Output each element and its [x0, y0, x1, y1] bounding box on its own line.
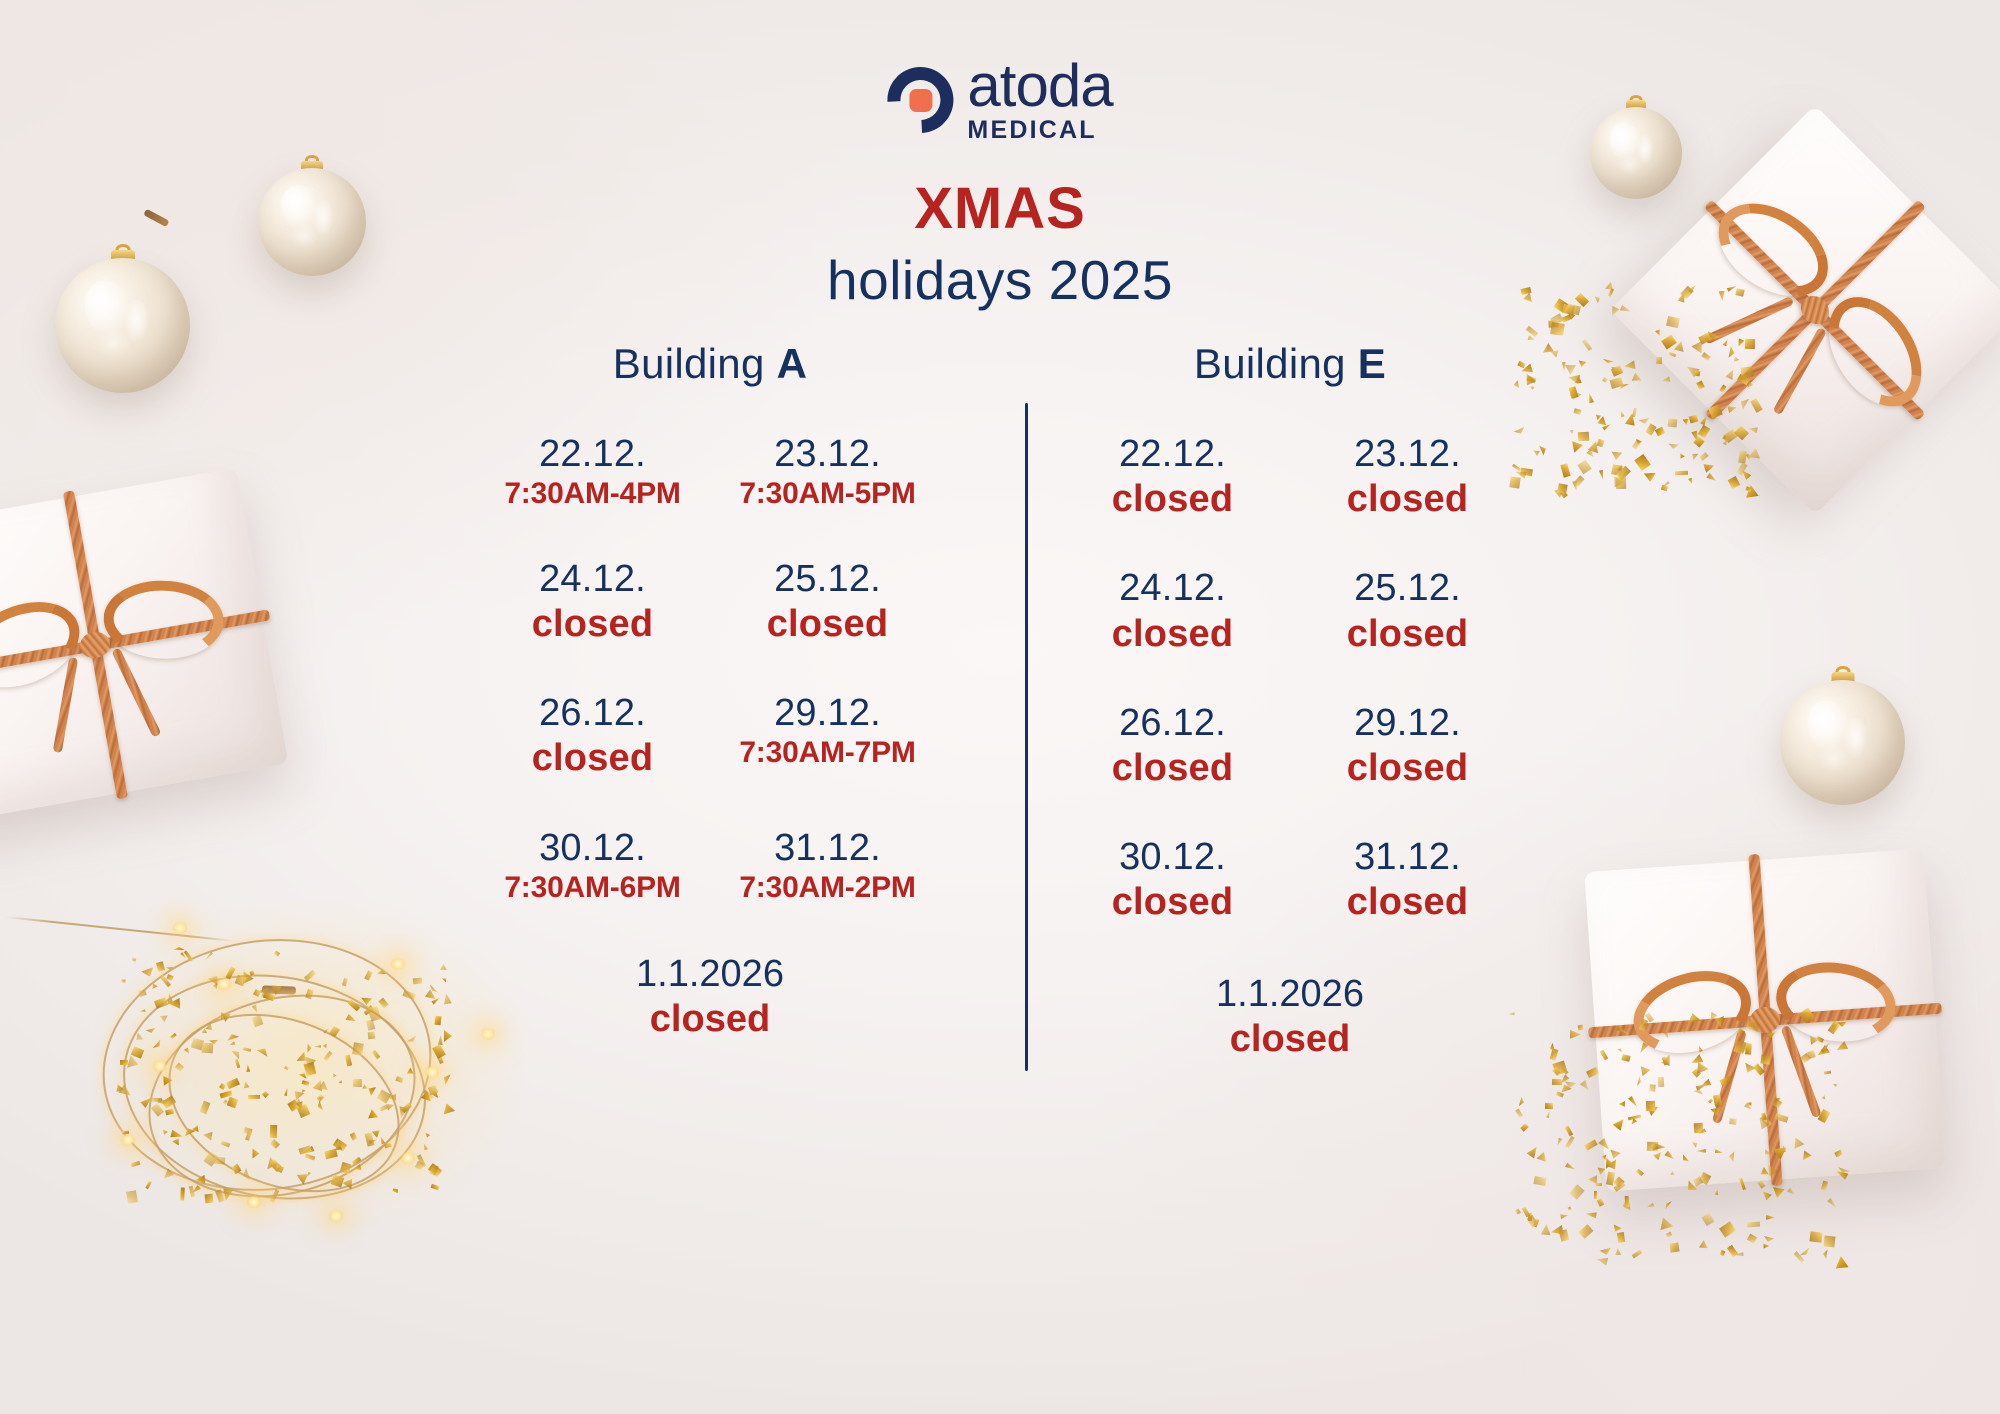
schedule-entry: 22.12. closed	[1055, 432, 1290, 522]
entry-hours: closed	[1055, 879, 1290, 925]
building-e-entries: 22.12. closed 23.12. closed 24.12. close…	[1055, 432, 1525, 926]
entry-date: 30.12.	[475, 826, 710, 870]
entry-date: 25.12.	[1290, 566, 1525, 610]
entry-hours: closed	[475, 601, 710, 647]
entry-hours: closed	[1290, 611, 1525, 657]
building-a-entries: 22.12. 7:30AM-4PM 23.12. 7:30AM-5PM 24.1…	[475, 432, 945, 906]
schedule-columns: Building A 22.12. 7:30AM-4PM 23.12. 7:30…	[0, 340, 2000, 1062]
entry-hours: 7:30AM-2PM	[710, 870, 945, 907]
page-title-main: holidays 2025	[827, 248, 1173, 312]
building-column-e: Building E 22.12. closed 23.12. closed 2…	[1055, 340, 1525, 1062]
entry-date: 24.12.	[475, 557, 710, 601]
entry-date: 29.12.	[710, 691, 945, 735]
schedule-entry: 31.12. closed	[1290, 835, 1525, 925]
page-title-accent: XMAS	[914, 175, 1086, 242]
entry-hours: 7:30AM-6PM	[475, 870, 710, 907]
entry-date: 22.12.	[1055, 432, 1290, 476]
building-e-label-prefix: Building	[1194, 340, 1358, 387]
building-a-label-key: A	[777, 340, 808, 387]
building-a-heading: Building A	[475, 340, 945, 388]
entry-hours: closed	[1290, 476, 1525, 522]
entry-hours: closed	[1055, 1016, 1525, 1062]
schedule-entry: 29.12. 7:30AM-7PM	[710, 691, 945, 781]
schedule-entry: 30.12. closed	[1055, 835, 1290, 925]
brand-name: atoda	[967, 56, 1112, 116]
entry-hours: closed	[475, 996, 945, 1042]
entry-hours: closed	[475, 735, 710, 781]
brand-logo: atoda MEDICAL	[887, 56, 1112, 143]
building-e-label-key: E	[1358, 340, 1386, 387]
entry-hours: closed	[710, 601, 945, 647]
entry-date: 23.12.	[1290, 432, 1525, 476]
entry-date: 24.12.	[1055, 566, 1290, 610]
schedule-entry: 31.12. 7:30AM-2PM	[710, 826, 945, 907]
schedule-entry: 24.12. closed	[475, 557, 710, 647]
entry-date: 25.12.	[710, 557, 945, 601]
schedule-entry: 26.12. closed	[1055, 701, 1290, 791]
building-e-heading: Building E	[1055, 340, 1525, 388]
entry-hours: closed	[1055, 611, 1290, 657]
entry-hours: closed	[1290, 745, 1525, 791]
entry-date: 26.12.	[475, 691, 710, 735]
entry-hours: closed	[1055, 745, 1290, 791]
building-a-label-prefix: Building	[613, 340, 777, 387]
entry-date: 31.12.	[1290, 835, 1525, 879]
entry-hours: closed	[1055, 476, 1290, 522]
schedule-entry-final: 1.1.2026 closed	[1055, 972, 1525, 1062]
schedule-entry: 25.12. closed	[1290, 566, 1525, 656]
entry-hours: 7:30AM-4PM	[475, 476, 710, 513]
schedule-entry: 23.12. closed	[1290, 432, 1525, 522]
poster-content: atoda MEDICAL XMAS holidays 2025 Buildin…	[0, 0, 2000, 1414]
entry-hours: 7:30AM-5PM	[710, 476, 945, 513]
column-gap	[945, 340, 1055, 1062]
schedule-entry: 24.12. closed	[1055, 566, 1290, 656]
schedule-entry: 30.12. 7:30AM-6PM	[475, 826, 710, 907]
schedule-entry: 22.12. 7:30AM-4PM	[475, 432, 710, 513]
entry-date: 30.12.	[1055, 835, 1290, 879]
brand-tagline: MEDICAL	[967, 118, 1112, 143]
entry-date: 26.12.	[1055, 701, 1290, 745]
schedule-entry: 23.12. 7:30AM-5PM	[710, 432, 945, 513]
entry-hours: closed	[1290, 879, 1525, 925]
building-column-a: Building A 22.12. 7:30AM-4PM 23.12. 7:30…	[475, 340, 945, 1062]
schedule-entry: 25.12. closed	[710, 557, 945, 647]
entry-date: 1.1.2026	[475, 952, 945, 996]
schedule-entry-final: 1.1.2026 closed	[475, 952, 945, 1042]
entry-date: 29.12.	[1290, 701, 1525, 745]
atoda-logo-icon	[887, 67, 953, 133]
entry-date: 1.1.2026	[1055, 972, 1525, 1016]
entry-date: 22.12.	[475, 432, 710, 476]
entry-date: 31.12.	[710, 826, 945, 870]
entry-date: 23.12.	[710, 432, 945, 476]
schedule-entry: 29.12. closed	[1290, 701, 1525, 791]
entry-hours: 7:30AM-7PM	[710, 735, 945, 772]
schedule-entry: 26.12. closed	[475, 691, 710, 781]
